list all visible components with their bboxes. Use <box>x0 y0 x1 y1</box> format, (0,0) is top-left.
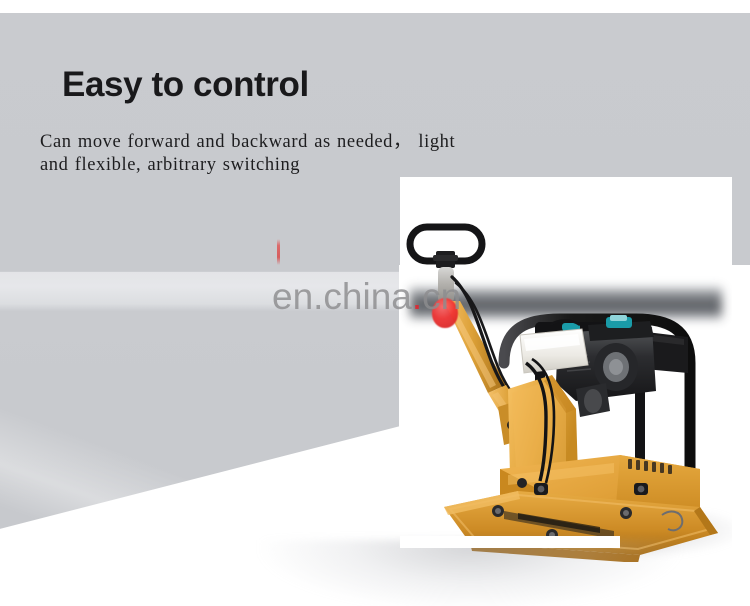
watermark-tick-mark <box>277 239 280 265</box>
product-photo <box>400 177 732 562</box>
plate-compactor-illustration <box>400 177 732 562</box>
page-title: Easy to control <box>62 66 309 105</box>
watermark-suffix: cn <box>422 276 461 317</box>
slide-canvas: Easy to control Can move forward and bac… <box>0 0 750 606</box>
bottom-drop-shadow <box>260 540 680 606</box>
watermark-prefix: en.china <box>272 276 412 317</box>
top-white-band <box>0 0 750 13</box>
watermark-text: en.china.cn <box>272 276 461 318</box>
watermark-dot: . <box>412 276 422 317</box>
bottom-fold-highlight <box>400 536 620 548</box>
body-copy: Can move forward and backward as needed，… <box>40 131 460 176</box>
